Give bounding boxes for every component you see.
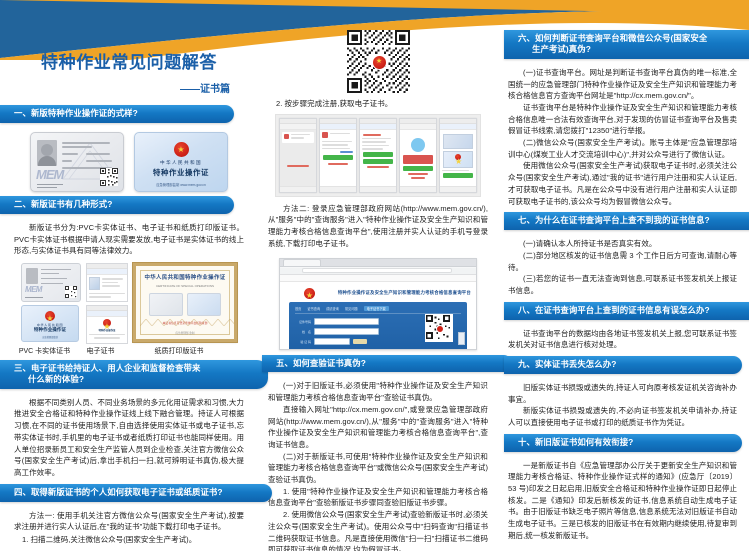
section-heading-3-line-2: 什么新的体验? bbox=[14, 374, 254, 385]
page-side-tab[interactable] bbox=[458, 332, 465, 345]
qr-center-emblem-icon bbox=[372, 55, 387, 70]
section-heading-9: 九、实体证书丢失怎么办? bbox=[504, 356, 742, 374]
card-back-title: 特种作业操作证 bbox=[135, 167, 227, 178]
section-5-body: (一)对于旧版证书,必须使用"特种作业操作证及安全生产知识和管理能力考核合格信息… bbox=[258, 376, 498, 551]
website-title: 特种作业操作证及安全生产知识和管理能力考核合格信息查询平台 bbox=[338, 290, 471, 296]
captcha-image[interactable] bbox=[353, 339, 367, 344]
website-content: 特种作业操作证及安全生产知识和管理能力考核合格信息查询平台 首页 证书查询 成绩… bbox=[280, 282, 476, 350]
section-heading-7: 七、为什么在证书查询平台上查不到我的证书信息? bbox=[504, 212, 749, 230]
nav-item-2[interactable]: 成绩查询 bbox=[326, 306, 339, 311]
section-3-body: 根据不同类别人员、不同业务场景的多元化用证需求和习惯,大力推进安全合格证和特种作… bbox=[0, 393, 258, 484]
section-heading-1-line-1: 一、新版特种作业操作证的式样? bbox=[14, 108, 220, 119]
section-2-paragraph-1: 新版证书分为:PVC卡实体证书、电子证书和纸质打印版证书。PVC卡实体证书根据申… bbox=[14, 222, 244, 257]
section-10-body: 一是新版证书自《应急管理部办公厅关于更新安全生产知识和管理能力考核合格证、特种作… bbox=[498, 456, 749, 547]
caption-pvc: PVC 卡实体证书 bbox=[12, 346, 77, 356]
section-6-paragraph-4: 使用微信公众号(国家安全生产考试)获取电子证书时,必须关注公众号(国家安全生产考… bbox=[508, 160, 737, 207]
column-middle: 2. 按步骤完成注册,获取电子证书。 bbox=[258, 0, 498, 551]
section-6-body: (一)证书查询平台。网址是判断证书查询平台真伪的唯一标准,全国统一的应急管理部门… bbox=[498, 63, 749, 212]
section-heading-4-line-1: 四、取得新版证书的个人如何获取电子证书或纸质证书? bbox=[14, 487, 258, 498]
form-input-2[interactable] bbox=[314, 338, 350, 345]
section-10-paragraph-1: 一是新版证书自《应急管理部办公厅关于更新安全生产知识和管理能力考核合格证、特种作… bbox=[508, 460, 737, 542]
section-heading-1: 一、新版特种作业操作证的式样? bbox=[0, 105, 234, 123]
query-form: 证件号码 姓 名 验 证 码 bbox=[295, 318, 379, 349]
card-watermark-text: MEM bbox=[36, 167, 63, 182]
section-5-paragraph-5: 2. 使用微信公众号(国家安全生产考试)查验新版证书时,必须关注公众号(国家安全… bbox=[268, 509, 488, 551]
section-7-paragraph-3: (三)若您的证书一直无法查询到信息,可联系证书签发机关上报证书信息。 bbox=[508, 273, 737, 296]
figure-wechat-qr bbox=[258, 30, 498, 93]
column-left: 特种作业常见问题解答 ——证书篇 一、新版特种作业操作证的式样? bbox=[0, 0, 258, 551]
phone-screenshot-3 bbox=[359, 118, 397, 193]
section-heading-8: 八、在证书查询平台上查到的证书信息有误怎么办? bbox=[504, 302, 749, 320]
section-9-body: 旧版实体证书损毁或遗失的,持证人可向原考核发证机关咨询补办事宜。 新版实体证书损… bbox=[498, 378, 749, 434]
figure-query-platform-website: 特种作业操作证及安全生产知识和管理能力考核合格信息查询平台 首页 证书查询 成绩… bbox=[258, 255, 498, 355]
photo-placeholder bbox=[37, 140, 57, 166]
title-block: 特种作业常见问题解答 ——证书篇 bbox=[0, 48, 258, 95]
form-label-2: 验 证 码 bbox=[295, 340, 311, 344]
section-4-paragraph-3: 2. 按步骤完成注册,获取电子证书。 bbox=[268, 98, 488, 110]
section-heading-5: 五、如何查验证书真伪? bbox=[262, 355, 512, 373]
section-heading-2-line-1: 二、新版证书有几种形式? bbox=[14, 199, 220, 210]
form-paper-image: 中华人民共和国特种作业操作证 CERTIFICATE OF SPECIAL OP… bbox=[133, 263, 237, 342]
mini-qr-icon bbox=[65, 286, 77, 298]
section-heading-6: 六、如何判断证书查询平台和微信公众号(国家安全 生产考试)真伪? bbox=[504, 30, 749, 59]
nav-item-0[interactable]: 首页 bbox=[295, 306, 301, 311]
avatar-icon bbox=[411, 138, 425, 152]
section-9-paragraph-2: 新版实体证书损毁或遗失的,不必向证书签发机关申请补办,持证人可以直接使用电子证书… bbox=[508, 405, 737, 428]
section-3-paragraph-1: 根据不同类别人员、不同业务场景的多元化用证需求和习惯,大力推进安全合格证和特种作… bbox=[14, 397, 244, 479]
form-label-1: 姓 名 bbox=[295, 330, 311, 334]
form-input-0[interactable] bbox=[314, 318, 379, 325]
section-4-method2-text: 方法二: 登录应急管理部政府网站(http://www.mem.gov.cn/)… bbox=[258, 201, 498, 255]
section-9-paragraph-1: 旧版实体证书损毁或遗失的,持证人可向原考核发证机关咨询补办事宜。 bbox=[508, 382, 737, 405]
card-back-country: 中华人民共和国 bbox=[135, 160, 227, 166]
section-4-paragraph-1: 方法一: 使用手机关注官方微信公众号(国家安全生产考试),按要求注册并进行实人认… bbox=[14, 510, 244, 533]
form-electronic-images: 特种作业操作证 bbox=[86, 263, 126, 344]
section-8-body: 证书查询平台的数据均由各地证书签发机关上报,您可联系证书签发机关对证书信息进行核… bbox=[498, 324, 749, 356]
section-5-paragraph-2: 直接输入网址"http://cx.mem.gov.cn/",或登录应急管理部政府… bbox=[268, 404, 488, 451]
column-right: 六、如何判断证书查询平台和微信公众号(国家安全 生产考试)真伪? (一)证书查询… bbox=[498, 0, 749, 547]
section-6-paragraph-2: 证书查询平台是特种作业操作证及安全生产知识和管理能力考核合格信息唯一合法有效查询… bbox=[508, 102, 737, 137]
national-emblem-icon bbox=[304, 288, 315, 299]
section-6-paragraph-3: (二)微信公众号(国家安全生产考试)。账号主体是"应急管理部培训中心(煤炭工业人… bbox=[508, 137, 737, 160]
form-label-0: 证件号码 bbox=[295, 320, 311, 324]
nav-item-1[interactable]: 证书查询 bbox=[307, 306, 320, 311]
figure-wechat-steps bbox=[258, 112, 498, 201]
nav-item-4[interactable]: 常见问题 bbox=[345, 306, 358, 311]
section-6-paragraph-1: (一)证书查询平台。网址是判断证书查询平台真伪的唯一标准,全国统一的应急管理部门… bbox=[508, 67, 737, 102]
browser-bookmarks-bar bbox=[280, 275, 476, 282]
phone-screenshot-1 bbox=[279, 118, 317, 193]
page-title: 特种作业常见问题解答 bbox=[14, 48, 244, 73]
figure-cert-three-forms: MEM 中华人民共和国 特种作业操作证 bbox=[0, 262, 258, 356]
form-input-1[interactable] bbox=[314, 328, 379, 335]
section-heading-6-line-2: 生产考试)真伪? bbox=[518, 44, 749, 55]
caption-paper: 纸质打印版证书 bbox=[124, 346, 234, 356]
section-7-paragraph-2: (二)部分地区核发的证书信息需 3 个工作日后方可查询,请耐心等待。 bbox=[508, 250, 737, 273]
pvc-card-front-image: MEM bbox=[30, 132, 124, 192]
section-heading-10-line-1: 十、新旧版证书如何有效衔接? bbox=[518, 437, 728, 448]
section-heading-6-line-1: 六、如何判断证书查询平台和微信公众号(国家安全 bbox=[518, 33, 749, 44]
national-emblem-icon bbox=[103, 319, 111, 327]
section-heading-3: 三、电子证书给持证人、用人企业和监督检查带来 什么新的体验? bbox=[0, 360, 268, 389]
card-qr-icon bbox=[100, 168, 118, 186]
section-7-body: (一)请确认本人所持证书是否真实有效。 (二)部分地区核发的证书信息需 3 个工… bbox=[498, 234, 749, 302]
website-header: 特种作业操作证及安全生产知识和管理能力考核合格信息查询平台 bbox=[285, 286, 471, 302]
figure-captions-row: PVC 卡实体证书 电子证书 纸质打印版证书 bbox=[12, 346, 246, 356]
wechat-qr-code-image bbox=[347, 30, 410, 93]
section-heading-8-line-1: 八、在证书查询平台上查到的证书信息有误怎么办? bbox=[518, 305, 749, 316]
national-emblem-icon bbox=[174, 142, 189, 157]
browser-window-screenshot: 特种作业操作证及安全生产知识和管理能力考核合格信息查询平台 首页 证书查询 成绩… bbox=[279, 258, 477, 350]
paper-cert-footer: 应急管理部 监制 bbox=[136, 331, 234, 335]
caption-electronic: 电子证书 bbox=[77, 346, 124, 356]
national-emblem-icon bbox=[45, 311, 55, 321]
figure-new-cert-samples: MEM bbox=[0, 127, 258, 196]
section-7-paragraph-1: (一)请确认本人所持证书是否真实有效。 bbox=[508, 238, 737, 250]
nav-item-active[interactable]: 电子证书下载 bbox=[364, 306, 389, 311]
section-heading-10: 十、新旧版证书如何有效衔接? bbox=[504, 434, 742, 452]
section-4-step2-text: 2. 按步骤完成注册,获取电子证书。 bbox=[258, 93, 498, 112]
section-heading-3-line-1: 三、电子证书给持证人、用人企业和监督检查带来 bbox=[14, 363, 254, 374]
phone-screenshot-5 bbox=[439, 118, 477, 193]
section-heading-4: 四、取得新版证书的个人如何获取电子证书或纸质证书? bbox=[0, 484, 272, 502]
section-heading-2: 二、新版证书有几种形式? bbox=[0, 196, 234, 214]
infographic-page: 特种作业常见问题解答 ——证书篇 一、新版特种作业操作证的式样? bbox=[0, 0, 749, 551]
section-4-paragraph-2: 1. 扫描二维码,关注微信公众号(国家安全生产考试)。 bbox=[14, 534, 244, 546]
phone-screenshot-4 bbox=[399, 118, 437, 193]
pvc-card-back-image: 中华人民共和国 特种作业操作证 应急管理部监制 www.mem.gov.cn bbox=[134, 132, 228, 192]
section-heading-9-line-1: 九、实体证书丢失怎么办? bbox=[518, 359, 728, 370]
section-8-paragraph-1: 证书查询平台的数据均由各地证书签发机关上报,您可联系证书签发机关对证书信息进行核… bbox=[508, 328, 737, 351]
phone-screenshot-2 bbox=[319, 118, 357, 193]
form-pvc-images: MEM 中华人民共和国 特种作业操作证 bbox=[21, 263, 79, 342]
section-2-body: 新版证书分为:PVC卡实体证书、电子证书和纸质打印版证书。PVC卡实体证书根据申… bbox=[0, 218, 258, 262]
section-4-paragraph-4: 方法二: 登录应急管理部政府网站(http://www.mem.gov.cn/)… bbox=[268, 203, 488, 250]
section-heading-5-line-1: 五、如何查验证书真伪? bbox=[276, 358, 498, 369]
section-5-paragraph-3: (二)对于新版证书,可使用"特种作业操作证及安全生产知识和管理能力考核合格信息查… bbox=[268, 451, 488, 486]
page-subtitle: ——证书篇 bbox=[14, 80, 244, 95]
website-query-panel: 首页 证书查询 成绩查询 常见问题 电子证书下载 证件号码 姓 名 验 证 码 bbox=[289, 302, 467, 350]
section-heading-7-line-1: 七、为什么在证书查询平台上查不到我的证书信息? bbox=[518, 215, 749, 226]
paper-cert-border-pattern-icon bbox=[140, 319, 236, 326]
website-qr-code bbox=[425, 314, 453, 342]
section-4-body: 方法一: 使用手机关注官方微信公众号(国家安全生产考试),按要求注册并进行实人认… bbox=[0, 506, 258, 551]
browser-address-bar bbox=[280, 268, 476, 275]
section-5-paragraph-1: (一)对于旧版证书,必须使用"特种作业操作证及安全生产知识和管理能力考核合格信息… bbox=[268, 380, 488, 403]
browser-tab-strip bbox=[280, 259, 476, 267]
card-back-footer: 应急管理部监制 www.mem.gov.cn bbox=[135, 182, 227, 187]
section-5-paragraph-4: 1. 使用"特种作业操作证及安全生产知识和管理能力考核合格信息查询平台"查验新版… bbox=[268, 486, 488, 509]
national-emblem-icon bbox=[455, 154, 461, 160]
